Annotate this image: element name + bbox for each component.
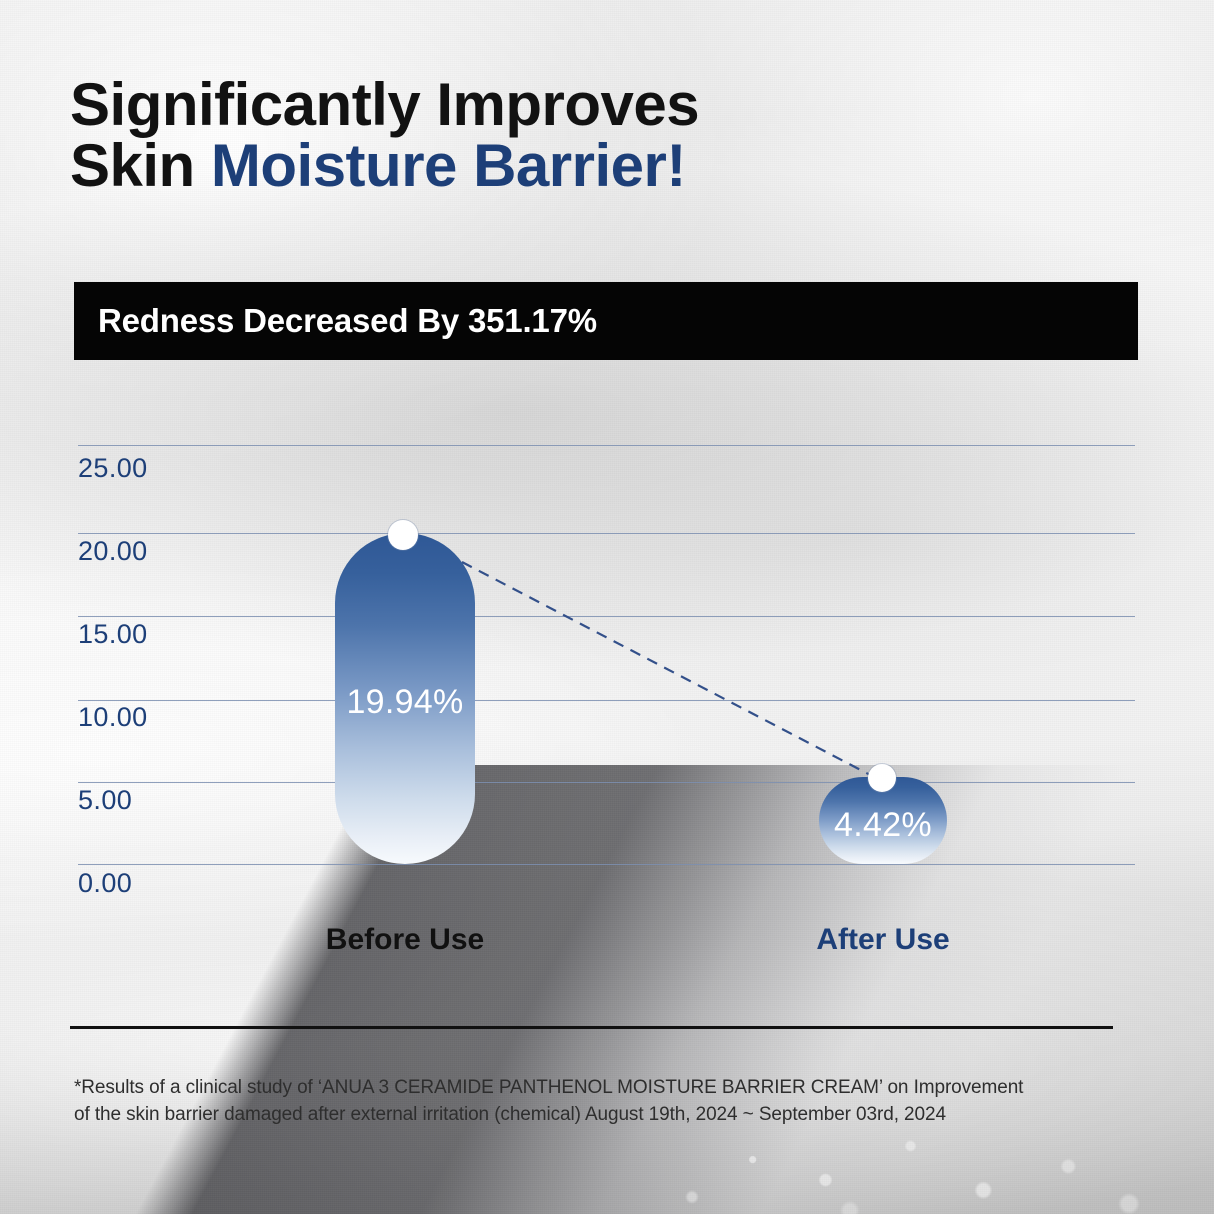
study-footnote: *Results of a clinical study of ‘ANUA 3 … [74,1075,1144,1129]
y-tick-label-25: 25.00 [78,453,148,484]
bar-before-use-value: 19.94% [335,683,475,722]
page-title: Significantly Improves Skin Moisture Bar… [70,74,699,196]
headline-line-2: Skin Moisture Barrier! [70,135,699,196]
study-footnote-line-1: *Results of a clinical study of ‘ANUA 3 … [74,1075,1144,1102]
headline-line-2-plain: Skin [70,132,211,199]
redness-banner: Redness Decreased By 351.17% [74,282,1138,360]
y-tick-label-15: 15.00 [78,619,148,650]
headline-line-1: Significantly Improves [70,74,699,135]
marker-dot-before-use [388,520,418,550]
gridline-25 [78,445,1135,446]
y-tick-label-20: 20.00 [78,536,148,567]
study-footnote-line-2: of the skin barrier damaged after extern… [74,1102,1144,1129]
gridline-20 [78,533,1135,534]
headline-line-2-accent: Moisture Barrier! [211,132,686,199]
footnote-divider [70,1026,1113,1029]
gridline-10 [78,700,1135,701]
promo-infographic: Significantly Improves Skin Moisture Bar… [0,0,1214,1214]
background-droplets [0,874,1214,1214]
redness-banner-text: Redness Decreased By 351.17% [98,302,597,340]
y-tick-label-10: 10.00 [78,702,148,733]
gridline-15 [78,616,1135,617]
dashed-trend-line [462,562,876,778]
